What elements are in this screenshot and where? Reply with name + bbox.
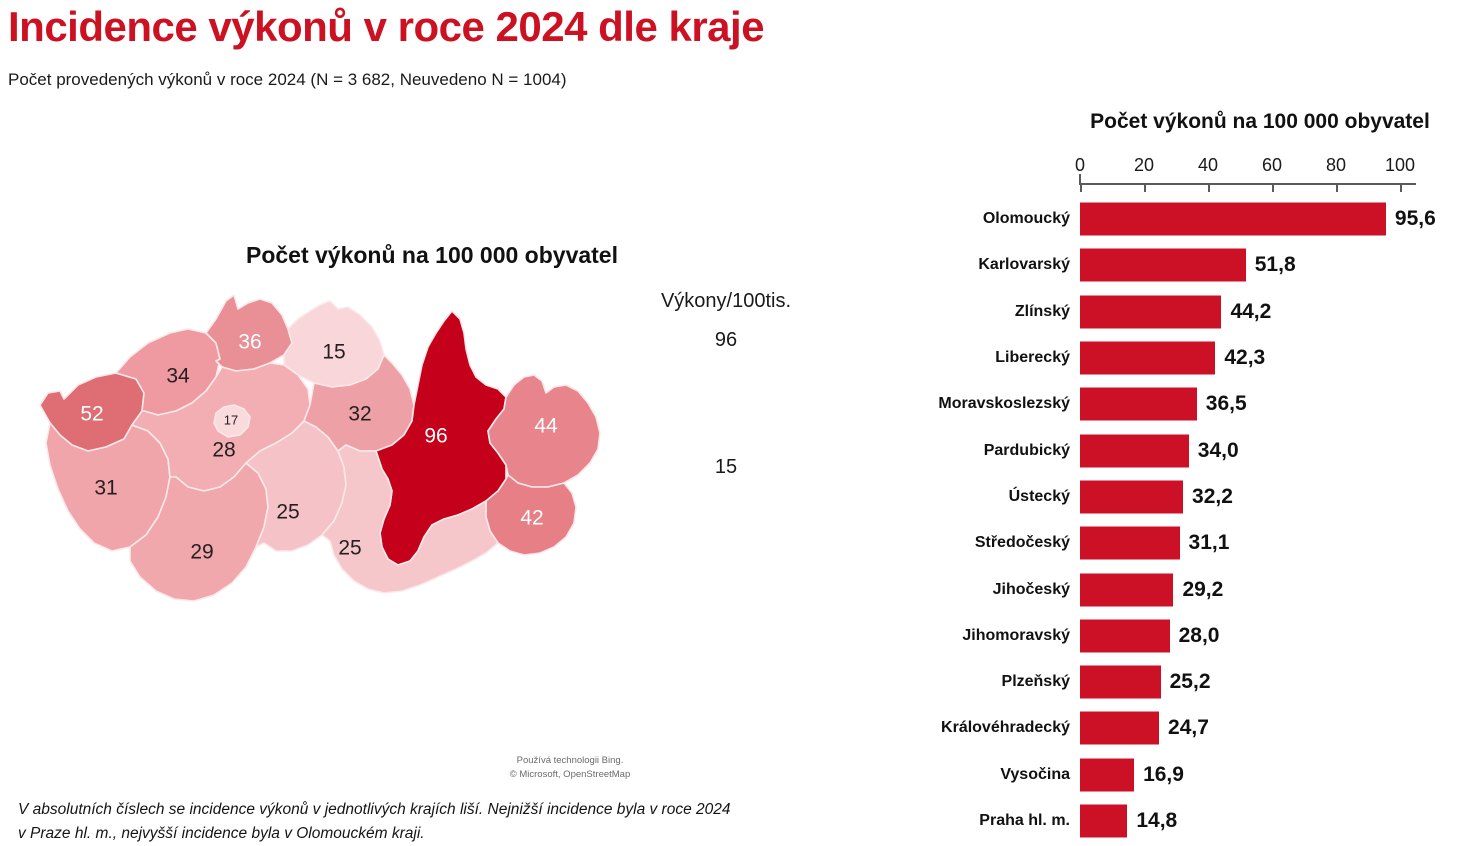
bar-value-label: 51,8 [1255,253,1296,277]
bar-value-label: 44,2 [1230,300,1271,324]
bar-rect[interactable] [1080,295,1221,328]
bar-rect[interactable] [1080,480,1183,513]
bar-category-label: Jihočeský [993,581,1070,599]
bar-value-label: 31,1 [1189,531,1230,555]
x-tick-mark-80 [1336,183,1338,192]
bar-category-label: Ústecký [1009,488,1070,506]
map-title: Počet výkonů na 100 000 obyvatel [222,242,642,269]
bar-row[interactable]: Liberecký42,3 [880,335,1462,381]
bar-category-label: Praha hl. m. [979,812,1070,830]
bar-category-label: Pardubický [984,442,1070,460]
bar-row[interactable]: Ústecký32,2 [880,474,1462,520]
region-value-praha: 17 [224,412,238,427]
region-value-moravskoslezsky: 44 [534,415,558,438]
czech-republic-choropleth-map[interactable]: 52 34 36 15 31 28 17 29 25 32 96 44 42 2… [20,285,660,665]
region-value-karlovarsky: 52 [80,403,103,426]
region-value-zlinsky: 42 [520,507,543,530]
x-tick-mark-100 [1400,183,1402,192]
page-subtitle: Počet provedených výkonů v roce 2024 (N … [8,70,567,90]
bar-chart-title: Počet výkonů na 100 000 obyvatel [1060,110,1460,134]
bar-category-label: Liberecký [995,349,1070,367]
region-value-jihomoravsky: 25 [338,537,361,560]
bar-category-label: Plzeňský [1002,673,1070,691]
bar-chart-panel: Počet výkonů na 100 000 obyvatel 0204060… [880,0,1462,835]
map-legend: Výkony/100tis. 96 15 [636,290,816,479]
x-tick-mark-60 [1272,183,1274,192]
slide-root: Incidence výkonů v roce 2024 dle kraje P… [0,0,1462,835]
bar-rect[interactable] [1080,666,1161,699]
bar-rect[interactable] [1080,388,1197,421]
x-axis-tick-labels: 020406080100 [880,155,1462,177]
bar-rect[interactable] [1080,249,1246,282]
bar-rect[interactable] [1080,805,1127,838]
region-value-vysocina: 25 [276,501,299,524]
x-axis-line [1080,183,1416,185]
region-value-stredocesky: 28 [212,439,235,462]
x-tick-mark-0 [1080,183,1082,192]
bar-value-label: 36,5 [1206,392,1247,416]
bar-row[interactable]: Olomoucký95,6 [880,196,1462,242]
bar-row[interactable]: Jihomoravský28,0 [880,613,1462,659]
map-legend-min-value: 15 [636,456,816,479]
bar-row[interactable]: Karlovarský51,8 [880,242,1462,288]
bar-category-label: Středočeský [975,534,1070,552]
page-title: Incidence výkonů v roce 2024 dle kraje [8,4,764,50]
bar-rect[interactable] [1080,758,1134,791]
bar-list: Olomoucký95,6Karlovarský51,8Zlínský44,2L… [880,196,1462,844]
x-tick-mark-20 [1144,183,1146,192]
bar-row[interactable]: Plzeňský25,2 [880,659,1462,705]
bar-rect[interactable] [1080,342,1215,375]
bar-rect[interactable] [1080,712,1159,745]
bar-value-label: 42,3 [1224,346,1265,370]
map-attribution-line-2: © Microsoft, OpenStreetMap [470,768,670,782]
region-value-pardubicky: 32 [348,403,371,426]
bar-row[interactable]: Vysočina16,9 [880,752,1462,798]
x-tick-mark-40 [1208,183,1210,192]
x-tick-label-100: 100 [1385,155,1415,176]
bar-value-label: 16,9 [1143,763,1184,787]
map-legend-title: Výkony/100tis. [636,290,816,313]
bar-value-label: 32,2 [1192,485,1233,509]
bar-row[interactable]: Zlínský44,2 [880,289,1462,335]
bar-rect[interactable] [1080,203,1386,236]
bar-row[interactable]: Středočeský31,1 [880,520,1462,566]
bar-value-label: 28,0 [1179,624,1220,648]
map-footnote: V absolutních číslech se incidence výkon… [18,798,738,846]
bar-value-label: 95,6 [1395,207,1436,231]
bar-category-label: Královéhradecký [941,719,1070,737]
map-attribution: Používá technologii Bing. © Microsoft, O… [470,754,670,782]
bar-row[interactable]: Praha hl. m.14,8 [880,798,1462,844]
region-value-plzensky: 31 [94,477,117,500]
bar-row[interactable]: Moravskoslezský36,5 [880,381,1462,427]
region-value-olomoucky: 96 [424,425,447,448]
bar-row[interactable]: Královéhradecký24,7 [880,705,1462,751]
bar-row[interactable]: Pardubický34,0 [880,427,1462,473]
bar-rect[interactable] [1080,619,1170,652]
region-value-liberecky: 36 [238,331,261,354]
x-tick-label-60: 60 [1262,155,1282,176]
bar-row[interactable]: Jihočeský29,2 [880,566,1462,612]
bar-category-label: Vysočina [1000,766,1070,784]
map-svg: 52 34 36 15 31 28 17 29 25 32 96 44 42 2… [20,285,660,665]
map-legend-max-value: 96 [636,329,816,352]
bar-value-label: 14,8 [1136,809,1177,833]
bar-value-label: 34,0 [1198,439,1239,463]
bar-value-label: 29,2 [1182,578,1223,602]
map-attribution-line-1: Používá technologii Bing. [470,754,670,768]
bar-category-label: Karlovarský [978,256,1070,274]
bar-rect[interactable] [1080,573,1173,606]
bar-value-label: 25,2 [1170,670,1211,694]
map-regions [40,295,600,601]
region-value-kralovehradecky: 15 [322,341,345,364]
x-tick-label-40: 40 [1198,155,1218,176]
x-tick-label-80: 80 [1326,155,1346,176]
bar-rect[interactable] [1080,527,1180,560]
region-value-ustecky: 34 [166,365,190,388]
bar-category-label: Olomoucký [983,210,1070,228]
bar-category-label: Moravskoslezský [938,395,1070,413]
x-tick-label-20: 20 [1134,155,1154,176]
region-value-jihocesky: 29 [190,541,213,564]
map-panel: Počet výkonů na 100 000 obyvatel [0,110,880,835]
bar-rect[interactable] [1080,434,1189,467]
bar-value-label: 24,7 [1168,716,1209,740]
bar-category-label: Zlínský [1015,303,1070,321]
bar-category-label: Jihomoravský [962,627,1070,645]
x-tick-label-0: 0 [1075,155,1085,176]
